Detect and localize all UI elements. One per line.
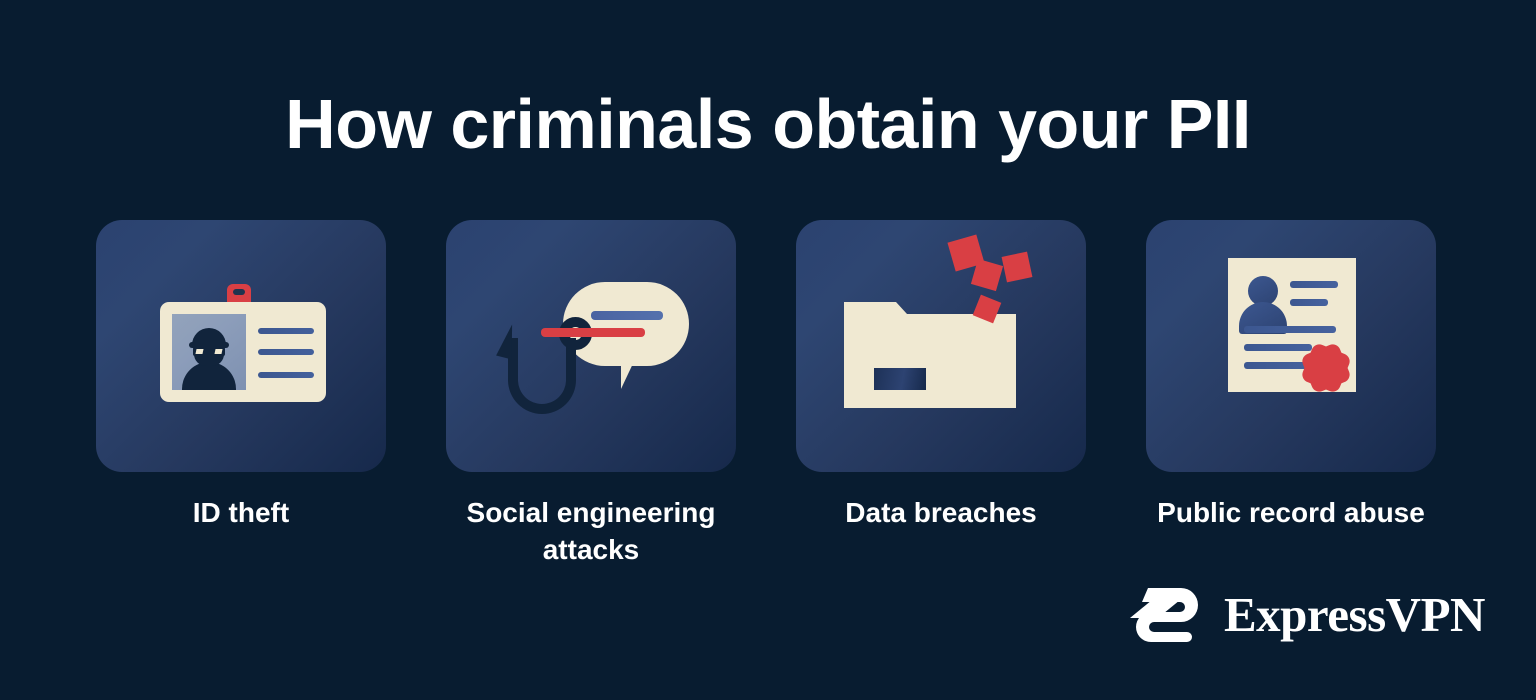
red-shard [971, 259, 1003, 291]
card-id-theft[interactable]: ID theft [96, 220, 386, 568]
document-text-line [1244, 362, 1310, 369]
wax-seal-icon [1306, 348, 1346, 388]
thief-eye-left [195, 349, 203, 354]
document-text-line [1290, 299, 1328, 306]
speech-bubble-tail [621, 355, 647, 389]
phishing-hook-message-icon [446, 220, 736, 472]
broken-folder-icon [796, 220, 1086, 472]
expressvpn-e-logo-icon [1128, 586, 1204, 642]
infographic-page: How criminals obtain your PII [0, 0, 1536, 700]
page-title: How criminals obtain your PII [0, 88, 1536, 162]
card-data-breaches[interactable]: Data breaches [796, 220, 1086, 568]
id-badge-thief-icon [96, 220, 386, 472]
expressvpn-wordmark: ExpressVPN [1224, 590, 1485, 639]
thief-body [182, 362, 236, 390]
public-record-document-icon [1146, 220, 1436, 472]
red-shard [1002, 252, 1033, 283]
id-text-line [258, 372, 314, 378]
document-text-line [1290, 281, 1338, 288]
card-label: Social engineering attacks [446, 494, 736, 568]
card-label: Data breaches [796, 494, 1086, 531]
id-text-line [258, 349, 314, 355]
card-label: Public record abuse [1146, 494, 1436, 531]
card-tile[interactable] [96, 220, 386, 472]
expressvpn-logo: ExpressVPN [1128, 586, 1485, 642]
card-tile[interactable] [796, 220, 1086, 472]
document-text-line [1244, 326, 1336, 333]
card-grid: ID theft Social engineering attacks [96, 220, 1442, 568]
bubble-text-line-red [541, 328, 645, 337]
card-social-engineering-attacks[interactable]: Social engineering attacks [446, 220, 736, 568]
thief-eye-right [214, 349, 222, 354]
card-public-record-abuse[interactable]: Public record abuse [1146, 220, 1436, 568]
card-tile[interactable] [446, 220, 736, 472]
photo-area [172, 314, 246, 390]
card-tile[interactable] [1146, 220, 1436, 472]
id-text-line [258, 328, 314, 334]
folder-shape [844, 298, 992, 408]
card-label: ID theft [96, 494, 386, 531]
id-card-shape [160, 302, 326, 402]
bubble-text-line-blue [591, 311, 663, 320]
folder-label-strip [874, 368, 926, 390]
document-text-line [1244, 344, 1312, 351]
